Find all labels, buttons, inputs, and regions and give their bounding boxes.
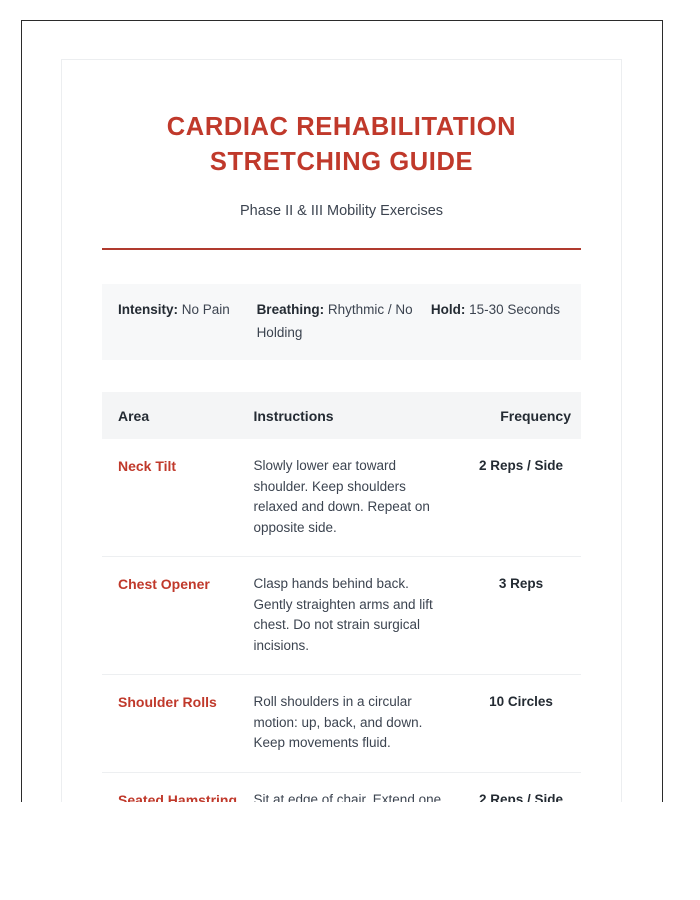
cell-instructions: Sit at edge of chair. Extend one leg str… — [253, 772, 467, 802]
cell-frequency: 10 Circles — [467, 675, 581, 773]
cell-frequency: 2 Reps / Side — [467, 439, 581, 557]
table-row: Shoulder Rolls Roll shoulders in a circu… — [102, 675, 581, 773]
cell-frequency: 2 Reps / Side — [467, 772, 581, 802]
cell-instructions: Slowly lower ear toward shoulder. Keep s… — [253, 439, 467, 557]
table-header-row: Area Instructions Frequency — [102, 392, 581, 439]
info-item-hold: Hold: 15-30 Seconds — [431, 298, 565, 344]
document-page-card: CARDIAC REHABILITATION STRETCHING GUIDE … — [61, 59, 622, 802]
table-row: Chest Opener Clasp hands behind back. Ge… — [102, 557, 581, 675]
page-title-line-1: CARDIAC REHABILITATION — [102, 110, 581, 145]
column-header-area: Area — [102, 392, 253, 439]
info-value-intensity: No Pain — [178, 302, 230, 317]
cell-area: Shoulder Rolls — [102, 675, 253, 773]
cell-area: Neck Tilt — [102, 439, 253, 557]
info-item-intensity: Intensity: No Pain — [118, 298, 257, 344]
stretching-guide-table: Area Instructions Frequency Neck Tilt Sl… — [102, 392, 581, 802]
column-header-frequency: Frequency — [467, 392, 581, 439]
table-header: Area Instructions Frequency — [102, 392, 581, 439]
column-header-instructions: Instructions — [253, 392, 467, 439]
summary-info-bar: Intensity: No Pain Breathing: Rhythmic /… — [102, 284, 581, 360]
cell-instructions: Clasp hands behind back. Gently straight… — [253, 557, 467, 675]
table-row: Seated Hamstring Sit at edge of chair. E… — [102, 772, 581, 802]
info-label-intensity: Intensity: — [118, 302, 178, 317]
info-item-breathing: Breathing: Rhythmic / No Holding — [257, 298, 431, 344]
cell-area: Seated Hamstring — [102, 772, 253, 802]
table-row: Neck Tilt Slowly lower ear toward should… — [102, 439, 581, 557]
cell-frequency: 3 Reps — [467, 557, 581, 675]
title-divider — [102, 248, 581, 250]
page-subtitle: Phase II & III Mobility Exercises — [102, 180, 581, 221]
page-title: CARDIAC REHABILITATION STRETCHING GUIDE — [102, 60, 581, 180]
screenshot-viewport: CARDIAC REHABILITATION STRETCHING GUIDE … — [0, 0, 700, 900]
table-body: Neck Tilt Slowly lower ear toward should… — [102, 439, 581, 802]
info-value-hold: 15-30 Seconds — [465, 302, 560, 317]
info-label-breathing: Breathing: — [257, 302, 325, 317]
document-outer-frame: CARDIAC REHABILITATION STRETCHING GUIDE … — [21, 20, 663, 802]
cell-area: Chest Opener — [102, 557, 253, 675]
page-title-line-2: STRETCHING GUIDE — [102, 145, 581, 180]
cell-instructions: Roll shoulders in a circular motion: up,… — [253, 675, 467, 773]
info-label-hold: Hold: — [431, 302, 466, 317]
page-content: CARDIAC REHABILITATION STRETCHING GUIDE … — [62, 60, 621, 802]
